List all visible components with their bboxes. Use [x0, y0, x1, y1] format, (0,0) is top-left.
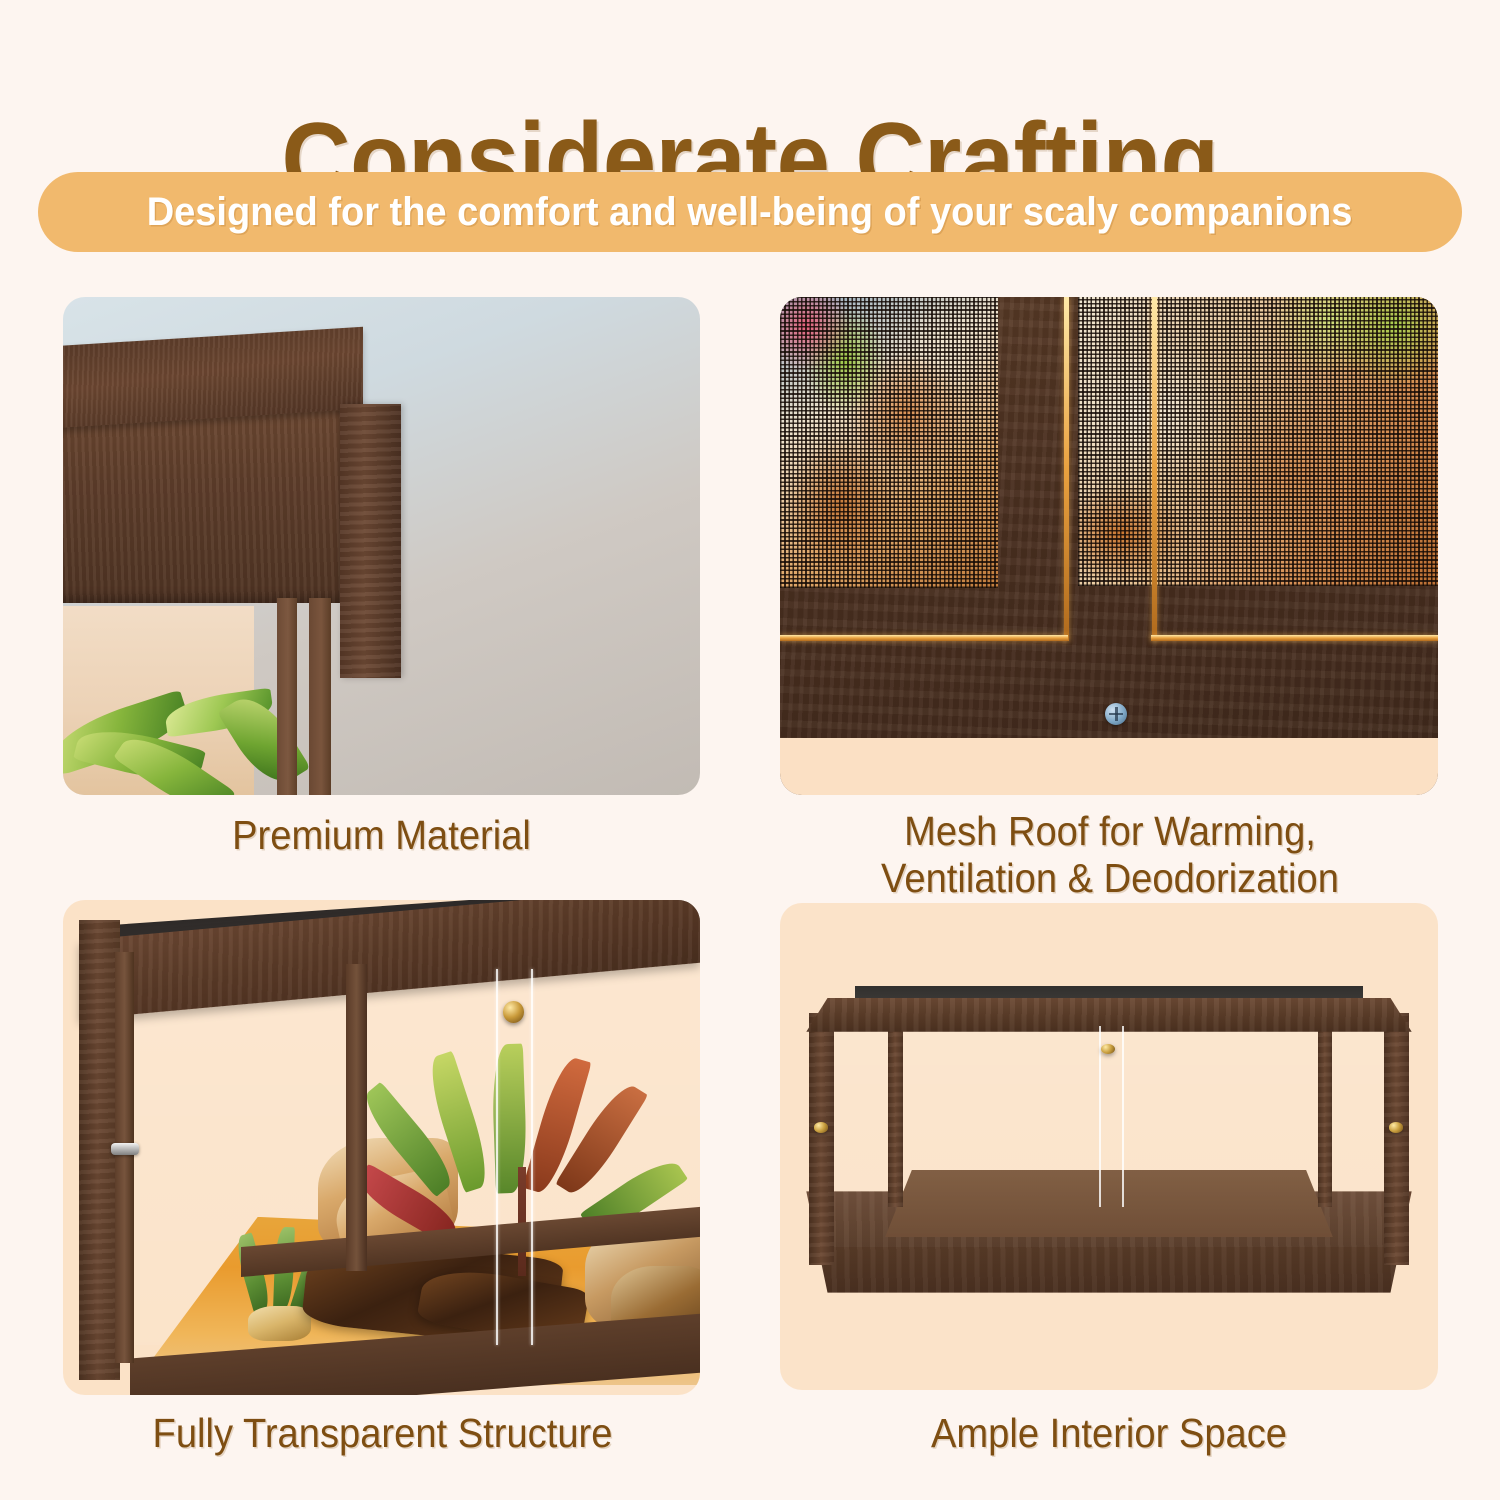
subtitle-text: Designed for the comfort and well-being … [147, 190, 1353, 234]
feature-image-ample-interior [780, 903, 1438, 1390]
glass-door-edge-right [531, 969, 533, 1345]
wood-inner-post [115, 952, 134, 1363]
silver-latch-pin[interactable] [111, 1143, 140, 1156]
wood-front-panel [63, 409, 343, 603]
caption-premium-material: Premium Material [85, 812, 677, 859]
gold-trim-vertical-left [1064, 297, 1069, 641]
wood-left-inner-post [888, 1023, 903, 1207]
brass-door-knob-left[interactable] [814, 1122, 829, 1132]
gold-trim-horizontal-left [780, 635, 1068, 641]
subtitle-banner: Designed for the comfort and well-being … [38, 172, 1462, 252]
wood-left-outer-post [809, 1013, 833, 1265]
brass-door-knob[interactable] [503, 1001, 524, 1022]
caption-mesh-roof-line1: Mesh Roof for Warming, [785, 808, 1436, 855]
mesh-grid-texture [1078, 297, 1438, 586]
mesh-screen-right [1078, 297, 1438, 586]
brass-door-knob-right[interactable] [1389, 1122, 1404, 1132]
wood-middle-post [346, 964, 366, 1271]
caption-transparent-structure: Fully Transparent Structure [73, 1410, 691, 1457]
rock-base-small [248, 1306, 312, 1341]
feature-image-premium-material [63, 297, 700, 795]
gold-trim-vertical-right [1152, 297, 1157, 641]
wood-top-rail [806, 998, 1411, 1032]
gold-trim-horizontal-right [1151, 635, 1438, 641]
wood-middle-post-left [277, 598, 297, 795]
glass-door-edge-left [1099, 1026, 1101, 1207]
glass-door-edge-left [496, 969, 498, 1345]
glass-panels [828, 1026, 1391, 1247]
metal-screw [1105, 703, 1127, 725]
mesh-grid-texture [780, 297, 998, 588]
mesh-screen-left [780, 297, 998, 588]
feature-image-mesh-roof [780, 297, 1438, 795]
wood-right-outer-post [1384, 1013, 1408, 1265]
panel-bottom-strip [780, 738, 1438, 795]
caption-mesh-roof-line2: Ventilation & Deodorization [785, 855, 1436, 902]
glass-door-edge-right [1122, 1026, 1124, 1207]
wood-right-inner-post [1318, 1023, 1333, 1207]
caption-ample-interior: Ample Interior Space [803, 1410, 1415, 1457]
wood-middle-post-right [309, 598, 331, 795]
wood-right-post [340, 404, 401, 678]
terrarium-body [806, 986, 1411, 1293]
caption-mesh-roof: Mesh Roof for Warming, Ventilation & Deo… [785, 808, 1436, 902]
feature-image-transparent-structure [63, 900, 700, 1395]
